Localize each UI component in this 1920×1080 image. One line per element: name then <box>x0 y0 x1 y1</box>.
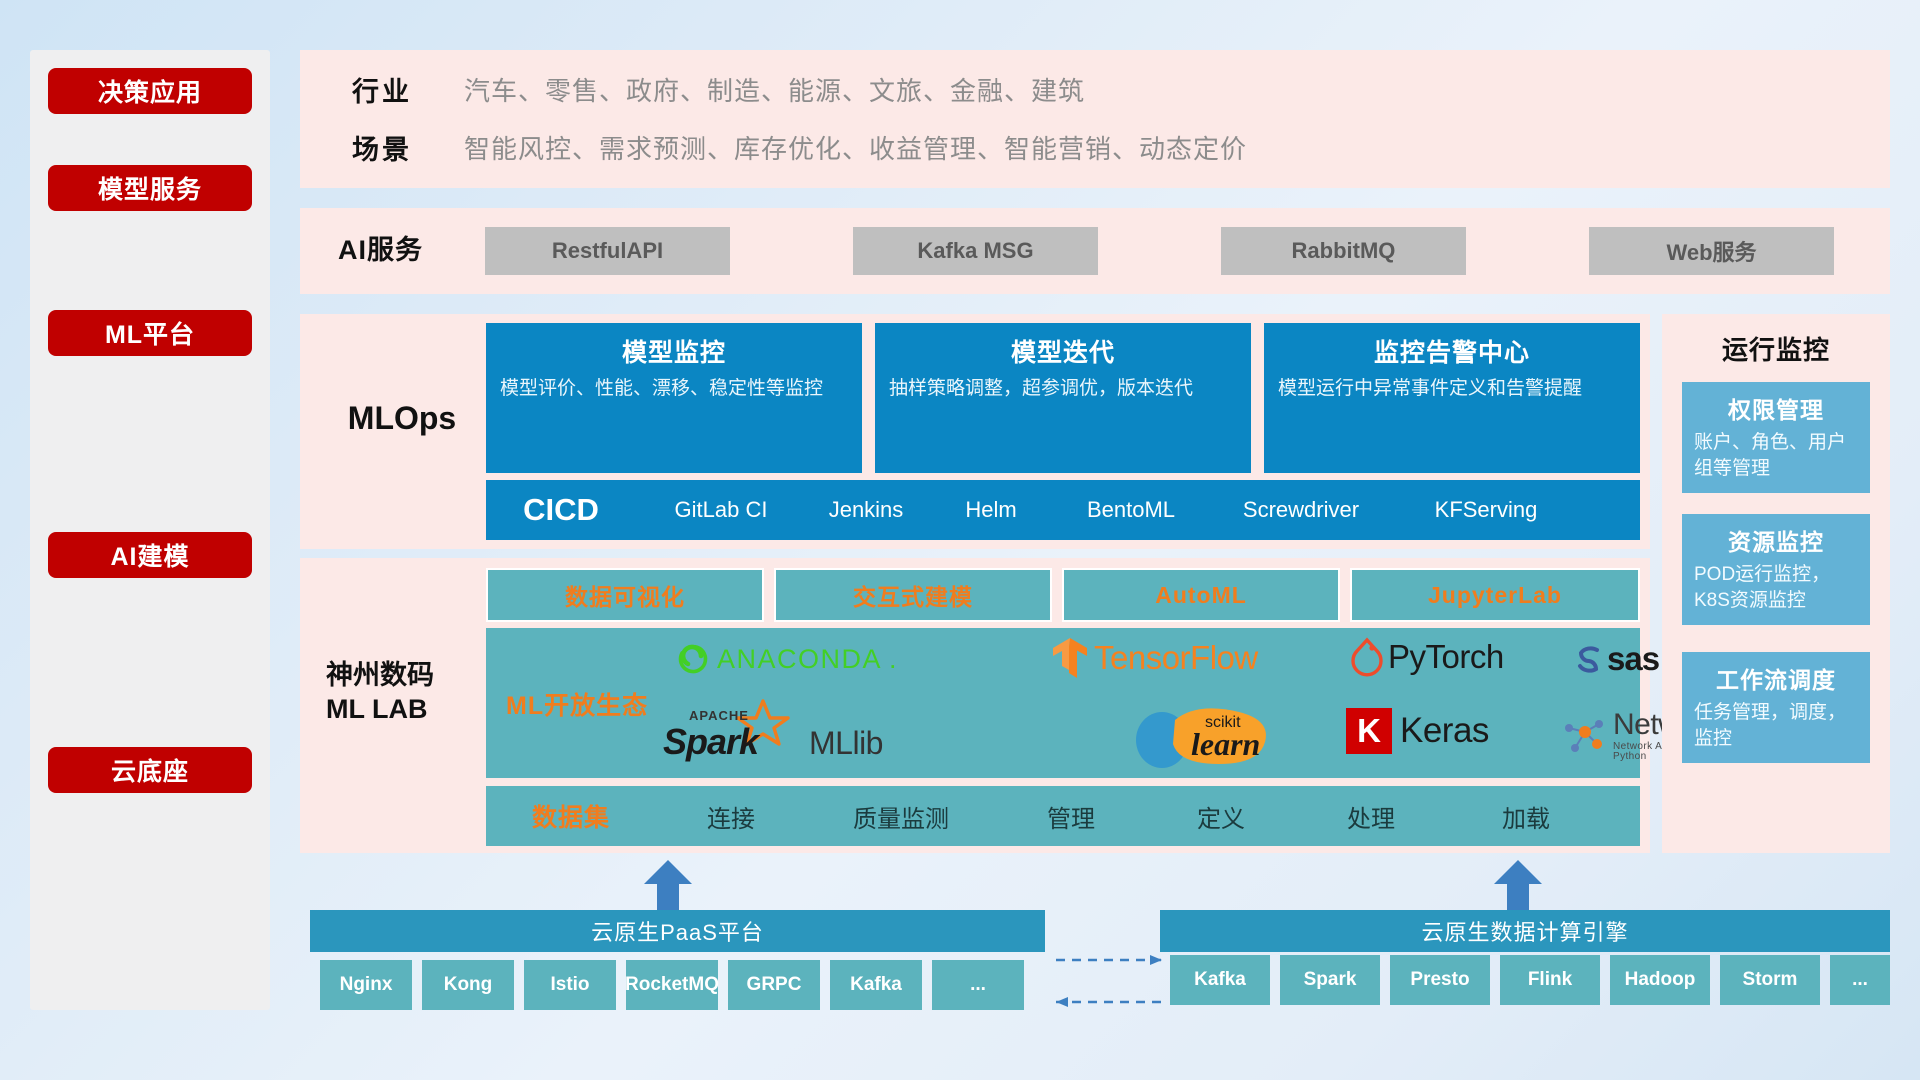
rail-item-ml-platform[interactable]: ML平台 <box>48 310 252 356</box>
sas-logo: sas <box>1571 640 1659 678</box>
card-title: 权限管理 <box>1694 391 1858 425</box>
runtime-monitor-panel: 运行监控 权限管理 账户、角色、用户组等管理 资源监控 POD运行监控，K8S资… <box>1662 314 1890 853</box>
keras-k-icon: K <box>1346 708 1392 754</box>
tool-chip-automl[interactable]: AutoML <box>1062 568 1340 622</box>
rail-item-decision-app[interactable]: 决策应用 <box>48 68 252 114</box>
engine-chip-spark[interactable]: Spark <box>1280 955 1380 1005</box>
rail-item-ai-modeling[interactable]: AI建模 <box>48 532 252 578</box>
sas-wordmark: sas <box>1607 640 1659 678</box>
tool-chip-interactive-modeling[interactable]: 交互式建模 <box>774 568 1052 622</box>
ml-lab-label-line1: 神州数码 <box>326 659 434 693</box>
pytorch-wordmark: PyTorch <box>1388 638 1504 676</box>
tool-chip-data-visualization[interactable]: 数据可视化 <box>486 568 764 622</box>
card-title: 资源监控 <box>1694 523 1858 557</box>
engine-chip-hadoop[interactable]: Hadoop <box>1610 955 1710 1005</box>
dataset-item-load[interactable]: 加载 <box>1446 799 1606 834</box>
ml-ecosystem-bar: ML开放生态 ANACONDA . TensorFlow <box>486 628 1640 778</box>
industry-value: 汽车、零售、政府、制造、能源、文旅、金融、建筑 <box>464 71 1085 108</box>
cicd-label: CICD <box>486 492 636 528</box>
rail-item-cloud-base[interactable]: 云底座 <box>48 747 252 793</box>
architecture-diagram: 决策应用 模型服务 ML平台 AI建模 云底座 行业 汽车、零售、政府、制造、能… <box>0 0 1920 1080</box>
card-desc: 模型评价、性能、漂移、稳定性等监控 <box>500 376 848 402</box>
paas-chip-kafka[interactable]: Kafka <box>830 960 922 1010</box>
mlops-label: MLOps <box>322 388 482 448</box>
ml-ecosystem-label: ML开放生态 <box>506 686 648 722</box>
monitor-card-resource[interactable]: 资源监控 POD运行监控，K8S资源监控 <box>1682 514 1870 625</box>
sas-icon <box>1571 642 1605 676</box>
spark-wordmark: Spark <box>663 721 758 763</box>
cicd-item-kfserving[interactable]: KFServing <box>1396 498 1576 521</box>
cicd-bar: CICD GitLab CI Jenkins Helm BentoML Scre… <box>486 480 1640 540</box>
card-desc: 抽样策略调整，超参调优，版本迭代 <box>889 376 1237 402</box>
monitor-card-workflow[interactable]: 工作流调度 任务管理，调度，监控 <box>1682 652 1870 763</box>
anaconda-logo: ANACONDA . <box>676 642 897 676</box>
mlops-card-alert-center[interactable]: 监控告警中心 模型运行中异常事件定义和告警提醒 <box>1264 323 1640 473</box>
engine-chip-storm[interactable]: Storm <box>1720 955 1820 1005</box>
cicd-item-screwdriver[interactable]: Screwdriver <box>1206 498 1396 521</box>
anaconda-icon <box>676 642 710 676</box>
cicd-item-jenkins[interactable]: Jenkins <box>806 498 926 521</box>
paas-title-bar: 云原生PaaS平台 <box>310 910 1045 952</box>
paas-chip-nginx[interactable]: Nginx <box>320 960 412 1010</box>
pytorch-icon <box>1351 638 1383 676</box>
tensorflow-logo: TensorFlow <box>1051 636 1258 680</box>
pytorch-logo: PyTorch <box>1351 638 1504 676</box>
scene-value: 智能风控、需求预测、库存优化、收益管理、智能营销、动态定价 <box>464 129 1247 166</box>
industry-label: 行业 <box>352 70 464 109</box>
keras-logo: K Keras <box>1346 708 1489 754</box>
cicd-item-helm[interactable]: Helm <box>926 498 1056 521</box>
model-service-panel: AI服务 RestfulAPI Kafka MSG RabbitMQ Web服务 <box>300 208 1890 294</box>
tensorflow-wordmark: TensorFlow <box>1094 639 1258 677</box>
service-chip-web[interactable]: Web服务 <box>1589 227 1834 275</box>
ai-service-label: AI服务 <box>338 226 488 276</box>
mllib-wordmark: MLlib <box>809 725 883 766</box>
decision-app-panel: 行业 汽车、零售、政府、制造、能源、文旅、金融、建筑 场景 智能风控、需求预测、… <box>300 50 1890 188</box>
rail-item-model-service[interactable]: 模型服务 <box>48 165 252 211</box>
tensorflow-icon <box>1051 636 1089 680</box>
spark-mllib-logo: APACHE Spark MLlib <box>661 704 883 766</box>
cicd-item-gitlab-ci[interactable]: GitLab CI <box>636 498 806 521</box>
card-title: 模型迭代 <box>889 333 1237 369</box>
card-desc: POD运行监控，K8S资源监控 <box>1694 562 1858 613</box>
ml-lab-label-line2: ML LAB <box>326 693 428 727</box>
cicd-item-bentoml[interactable]: BentoML <box>1056 498 1206 521</box>
card-desc: 账户、角色、用户组等管理 <box>1694 430 1858 481</box>
paas-chip-rocketmq[interactable]: RocketMQ <box>626 960 718 1010</box>
mlops-card-model-monitoring[interactable]: 模型监控 模型评价、性能、漂移、稳定性等监控 <box>486 323 862 473</box>
paas-chip-more[interactable]: ... <box>932 960 1024 1010</box>
learn-word: learn <box>1191 726 1260 763</box>
service-chip-rabbitmq[interactable]: RabbitMQ <box>1221 227 1466 275</box>
scikit-learn-logo: scikit learn <box>1131 708 1311 770</box>
service-chip-kafka-msg[interactable]: Kafka MSG <box>853 227 1098 275</box>
card-desc: 模型运行中异常事件定义和告警提醒 <box>1278 376 1626 402</box>
dataset-label: 数据集 <box>486 798 656 834</box>
anaconda-wordmark: ANACONDA <box>717 644 882 675</box>
service-chip-restfulapi[interactable]: RestfulAPI <box>485 227 730 275</box>
paas-chip-istio[interactable]: Istio <box>524 960 616 1010</box>
dataset-item-process[interactable]: 处理 <box>1296 799 1446 834</box>
left-rail: 决策应用 模型服务 ML平台 AI建模 云底座 <box>30 50 270 1010</box>
arrow-bidirectional-connector <box>1050 950 1170 1020</box>
data-engine-title-bar: 云原生数据计算引擎 <box>1160 910 1890 952</box>
dataset-item-quality[interactable]: 质量监测 <box>806 799 996 834</box>
runtime-monitor-title: 运行监控 <box>1662 330 1890 367</box>
paas-chip-grpc[interactable]: GRPC <box>728 960 820 1010</box>
engine-chip-more[interactable]: ... <box>1830 955 1890 1005</box>
arrow-up-data-engine <box>1490 858 1546 914</box>
engine-chip-presto[interactable]: Presto <box>1390 955 1490 1005</box>
paas-chip-kong[interactable]: Kong <box>422 960 514 1010</box>
card-title: 监控告警中心 <box>1278 333 1626 369</box>
dataset-bar: 数据集 连接 质量监测 管理 定义 处理 加载 <box>486 786 1640 846</box>
keras-wordmark: Keras <box>1400 711 1489 751</box>
scene-label: 场景 <box>352 128 464 167</box>
ml-lab-panel: 神州数码 ML LAB 数据可视化 交互式建模 AutoML JupyterLa… <box>300 558 1650 853</box>
card-title: 模型监控 <box>500 333 848 369</box>
dataset-item-define[interactable]: 定义 <box>1146 799 1296 834</box>
monitor-card-permission[interactable]: 权限管理 账户、角色、用户组等管理 <box>1682 382 1870 493</box>
dataset-item-connect[interactable]: 连接 <box>656 799 806 834</box>
arrow-up-paas <box>640 858 696 914</box>
dataset-item-manage[interactable]: 管理 <box>996 799 1146 834</box>
networkx-graph-icon <box>1561 714 1607 758</box>
engine-chip-kafka[interactable]: Kafka <box>1170 955 1270 1005</box>
card-title: 工作流调度 <box>1694 661 1858 695</box>
card-desc: 任务管理，调度，监控 <box>1694 700 1858 751</box>
tool-chip-jupyterlab[interactable]: JupyterLab <box>1350 568 1640 622</box>
mlops-panel: MLOps 模型监控 模型评价、性能、漂移、稳定性等监控 模型迭代 抽样策略调整… <box>300 314 1650 549</box>
engine-chip-flink[interactable]: Flink <box>1500 955 1600 1005</box>
mlops-card-model-iteration[interactable]: 模型迭代 抽样策略调整，超参调优，版本迭代 <box>875 323 1251 473</box>
ml-lab-label: 神州数码 ML LAB <box>320 653 491 733</box>
